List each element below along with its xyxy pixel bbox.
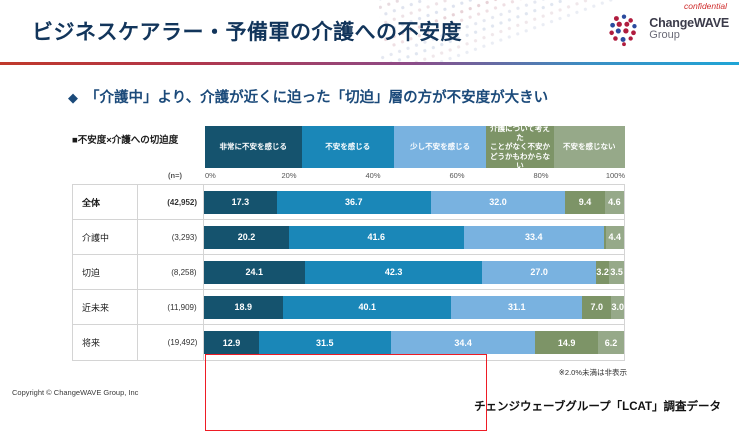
changewave-sphere-icon: [605, 10, 643, 48]
bar-segment-5: 6.2: [598, 331, 624, 354]
row-sample-size: (8,258): [138, 255, 204, 289]
row-label: 将来: [73, 325, 138, 360]
row-label: 近未来: [73, 290, 138, 324]
bar-segment-2: 42.3: [305, 261, 483, 284]
brand-logo: ChangeWAVE Group: [605, 10, 729, 48]
bar-segment-4: 3.2: [596, 261, 609, 284]
stacked-bar: 20.241.633.44.4: [204, 226, 624, 249]
header-divider: [0, 62, 739, 65]
chart-section-title: ■不安度×介護への切迫度: [72, 132, 178, 146]
highlight-rectangle: [205, 354, 487, 431]
bar-segment-1: 17.3: [204, 191, 277, 214]
legend-item-2: 不安を感じる: [302, 126, 394, 168]
bar-segment-3: 32.0: [431, 191, 565, 214]
axis-tick-40: 40%: [365, 171, 380, 180]
source-note: チェンジウェーブグループ「LCAT」調査データ: [474, 398, 721, 414]
bar-segment-3: 31.1: [451, 296, 582, 319]
bar-segment-2: 36.7: [277, 191, 431, 214]
stacked-bar: 12.931.534.414.96.2: [204, 331, 624, 354]
bar-segment-1: 12.9: [204, 331, 258, 354]
legend-item-3: 少し不安を感じる: [394, 126, 486, 168]
chart-row: 将来(19,492)12.931.534.414.96.2: [73, 325, 624, 360]
bar-segment-5: 4.6: [605, 191, 624, 214]
bar-segment-1: 24.1: [204, 261, 305, 284]
axis-tick-80: 80%: [533, 171, 548, 180]
chart-legend: 非常に不安を感じる不安を感じる少し不安を感じる介護について考えたことがなく不安か…: [205, 126, 625, 168]
bar-segment-4: 7.0: [582, 296, 611, 319]
chart-row: 切迫(8,258)24.142.327.03.23.5: [73, 255, 624, 290]
bar-segment-5: 4.4: [606, 226, 624, 249]
row-sample-size: (3,293): [138, 220, 204, 254]
stacked-bar: 17.336.732.09.44.6: [204, 191, 624, 214]
bar-segment-3: 27.0: [482, 261, 595, 284]
bar-segment-4: 14.9: [535, 331, 598, 354]
row-label: 全体: [73, 185, 138, 219]
row-label: 切迫: [73, 255, 138, 289]
chart-row: 近未来(11,909)18.940.131.17.03.0: [73, 290, 624, 325]
axis-tick-60: 60%: [449, 171, 464, 180]
stacked-bar: 24.142.327.03.23.5: [204, 261, 624, 284]
chart-row: 全体(42,952)17.336.732.09.44.6: [73, 185, 624, 220]
bar-segment-3: 34.4: [391, 331, 535, 354]
confidential-label: confidential: [684, 1, 727, 11]
bar-segment-4: 9.4: [565, 191, 604, 214]
bar-segment-1: 20.2: [204, 226, 289, 249]
bar-segment-2: 31.5: [259, 331, 391, 354]
bar-segment-2: 40.1: [283, 296, 451, 319]
bar-segment-5: 3.0: [611, 296, 624, 319]
chart-footnote: ※2.0%未満は非表示: [0, 367, 627, 378]
bar-segment-3: 33.4: [464, 226, 604, 249]
page-title: ビジネスケアラー・予備軍の介護への不安度: [32, 16, 462, 46]
axis-tick-100: 100%: [606, 171, 625, 180]
row-sample-size: (42,952): [138, 185, 204, 219]
legend-item-1: 非常に不安を感じる: [205, 126, 302, 168]
chart-rows: 全体(42,952)17.336.732.09.44.6介護中(3,293)20…: [72, 184, 625, 361]
subtitle-text: 「介護中」より、介護が近くに迫った「切迫」層の方が不安度が大きい: [85, 90, 548, 106]
logo-name: ChangeWAVE: [649, 17, 729, 30]
axis-tick-20: 20%: [281, 171, 296, 180]
bar-segment-5: 3.5: [609, 261, 624, 284]
sample-size-header: (n=): [168, 171, 182, 180]
logo-subtitle: Group: [649, 30, 729, 42]
diamond-bullet-icon: ◆: [68, 90, 78, 105]
row-label: 介護中: [73, 220, 138, 254]
stacked-bar: 18.940.131.17.03.0: [204, 296, 624, 319]
chart-row: 介護中(3,293)20.241.633.44.4: [73, 220, 624, 255]
chart-x-axis: (n=) 0%20%40%60%80%100%: [0, 170, 739, 184]
row-sample-size: (19,492): [138, 325, 204, 360]
copyright-text: Copyright © ChangeWAVE Group, Inc: [12, 388, 138, 397]
slide-subtitle: ◆「介護中」より、介護が近くに迫った「切迫」層の方が不安度が大きい: [68, 86, 548, 107]
bar-segment-2: 41.6: [289, 226, 464, 249]
row-sample-size: (11,909): [138, 290, 204, 324]
bar-segment-1: 18.9: [204, 296, 283, 319]
legend-item-5: 不安を感じない: [554, 126, 625, 168]
axis-tick-0: 0%: [205, 171, 216, 180]
legend-item-4: 介護について考えたことがなく不安かどうかもわからない: [486, 126, 553, 168]
